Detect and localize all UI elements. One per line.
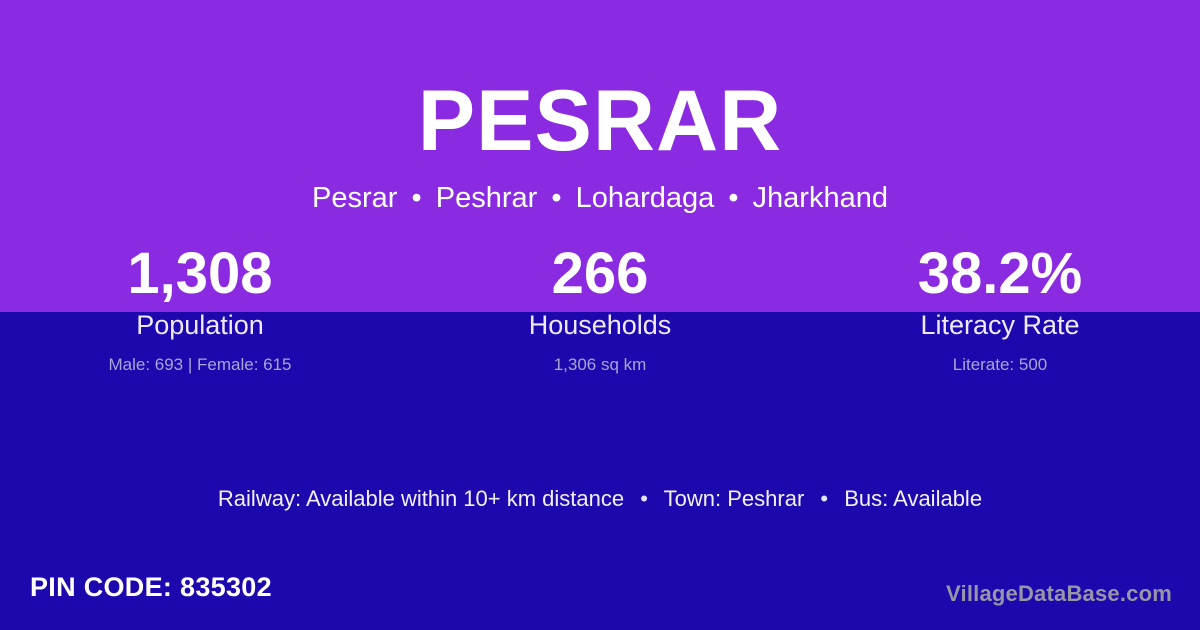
stat-households-label: Households [400,312,800,339]
stat-population-value: 1,308 [0,240,400,308]
stat-population-label: Population [0,312,400,339]
breadcrumb-item-district: Lohardaga [576,182,715,214]
breadcrumb-item-state: Jharkhand [753,182,888,214]
breadcrumb-separator-dot: • [406,182,428,214]
village-info-card: PESRAR Pesrar • Peshrar • Lohardaga • Jh… [0,0,1200,630]
breadcrumb-separator-dot: • [722,182,744,214]
info-separator-dot: • [630,486,658,511]
info-separator-dot: • [810,486,838,511]
pin-code: PIN CODE: 835302 [30,574,272,601]
breadcrumb-separator-dot: • [545,182,567,214]
breadcrumb-item-village: Pesrar [312,182,397,214]
card-footer: PIN CODE: 835302 VillageDataBase.com [0,570,1200,630]
stat-population: 1,308 Population Male: 693 | Female: 615 [0,240,400,373]
stat-households-detail: 1,306 sq km [400,356,800,373]
breadcrumb-item-block: Peshrar [436,182,538,214]
stat-literacy-rate-value: 38.2% [800,240,1200,308]
info-railway: Railway: Available within 10+ km distanc… [218,486,624,511]
breadcrumb: Pesrar • Peshrar • Lohardaga • Jharkhand [0,182,1200,215]
site-brand: VillageDataBase.com [946,583,1172,605]
page-title: PESRAR [0,78,1200,164]
info-town: Town: Peshrar [664,486,805,511]
stat-literacy-rate-detail: Literate: 500 [800,356,1200,373]
statistics-row: 1,308 Population Male: 693 | Female: 615… [0,240,1200,373]
stat-literacy-rate: 38.2% Literacy Rate Literate: 500 [800,240,1200,373]
amenities-info-line: Railway: Available within 10+ km distanc… [0,486,1200,512]
stat-households: 266 Households 1,306 sq km [400,240,800,373]
stat-population-detail: Male: 693 | Female: 615 [0,356,400,373]
info-bus: Bus: Available [844,486,982,511]
stat-households-value: 266 [400,240,800,308]
stat-literacy-rate-label: Literacy Rate [800,312,1200,339]
